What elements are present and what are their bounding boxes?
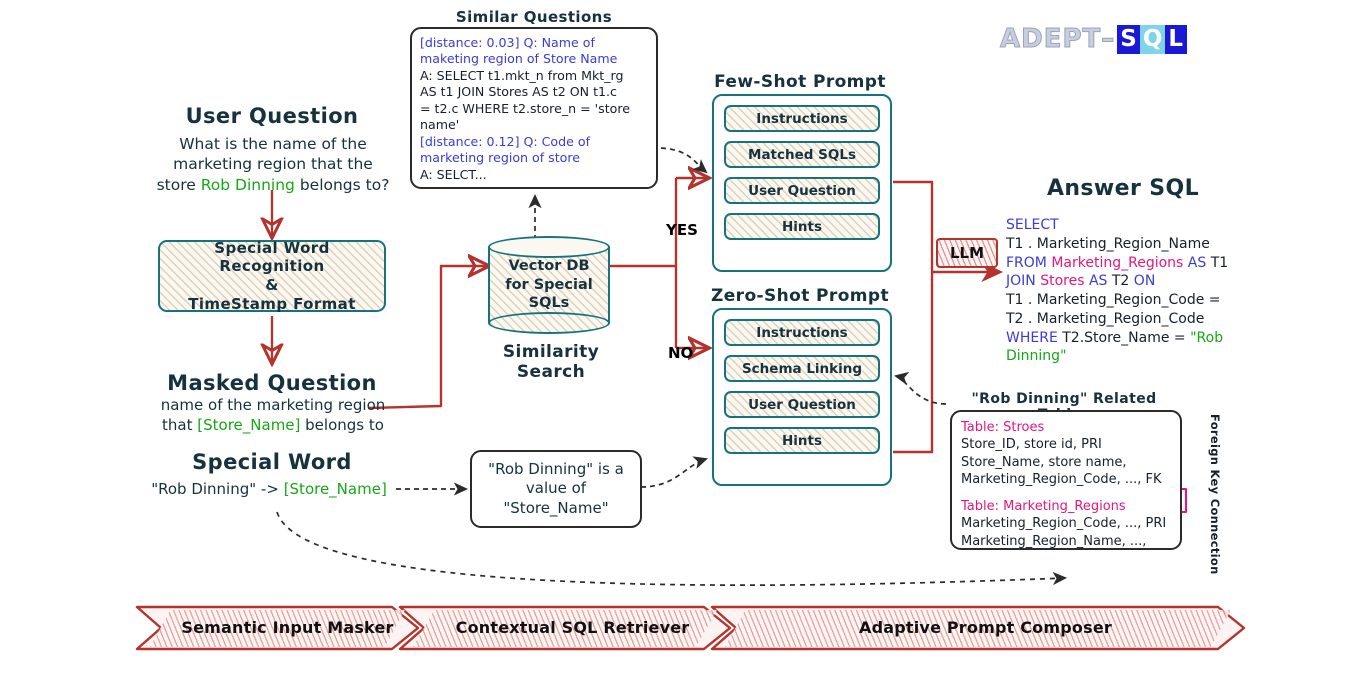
value-box-line-1: "Rob Dinning" is a [488, 460, 624, 480]
sql-line: Dinning" [1006, 347, 1238, 366]
table-row: Marketing_Region_Code, ..., PRI [961, 515, 1171, 532]
logo-sql-badge: S Q L [1117, 25, 1187, 54]
sql-line: T1 . Marketing_Region_Code = [1006, 291, 1238, 310]
zero-shot-slot-instructions[interactable]: Instructions [724, 319, 880, 346]
answer-sql-title: Answer SQL [1012, 176, 1234, 201]
table-block-stores: Table: Stroes Store_ID, store id, PRI St… [961, 419, 1171, 488]
logo-letter-l: L [1165, 25, 1187, 54]
user-question-line-1: What is the name of the [142, 134, 404, 154]
masked-question-title: Masked Question [152, 371, 392, 395]
few-shot-slot-user-question[interactable]: User Question [724, 177, 880, 204]
sq-line: A: SELCT... [420, 167, 648, 183]
mq-line2-pre: that [162, 416, 197, 434]
pipeline-stage-3-label: Adaptive Prompt Composer [859, 618, 1112, 637]
table-row: Store_Name, store name, [961, 454, 1171, 471]
pipeline-stage-3[interactable]: Adaptive Prompt Composer [733, 605, 1238, 649]
uq-line3-pre: store [157, 176, 201, 194]
sq-line: maketing region of Store Name [420, 51, 648, 67]
value-box-line-2: value of [488, 479, 624, 499]
sql-line: WHERE T2.Store_Name = "Rob [1006, 329, 1238, 348]
foreign-key-connection-label: Foreign Key Connection [1208, 414, 1222, 575]
decision-yes-label: YES [666, 221, 698, 239]
zero-shot-slot-user-question[interactable]: User Question [724, 391, 880, 418]
sq-line: name' [420, 117, 648, 133]
value-box-line-3: "Store_Name" [488, 499, 624, 519]
zero-shot-prompt-box: Instructions Schema Linking User Questio… [712, 308, 892, 486]
table-row: Store_ID, store id, PRI [961, 436, 1171, 453]
sw-value: "Rob Dinning" -> [151, 480, 279, 498]
vector-db-cylinder[interactable]: Vector DB for Special SQLs [488, 236, 610, 334]
pipeline-bar: Semantic Input Masker Contextual SQL Ret… [135, 605, 1245, 649]
decision-no-label: NO [668, 344, 693, 362]
sq-line: [distance: 0.03] Q: Name of [420, 35, 648, 51]
pipeline-stage-1[interactable]: Semantic Input Masker [155, 605, 420, 649]
table-header: Table: Stroes [961, 419, 1171, 436]
logo-letter-q: Q [1140, 25, 1166, 54]
sq-line: marketing region of store [420, 150, 648, 166]
pipeline-stage-2-label: Contextual SQL Retriever [456, 618, 690, 637]
table-block-marketing-regions: Table: Marketing_Regions Marketing_Regio… [961, 498, 1171, 550]
zero-shot-slot-schema-linking[interactable]: Schema Linking [724, 355, 880, 382]
related-tables-box: Table: Stroes Store_ID, store id, PRI St… [950, 410, 1182, 550]
mq-line2-post: belongs to [300, 416, 384, 434]
pipeline-stage-1-label: Semantic Input Masker [181, 618, 393, 637]
user-question-line-3: store Rob Dinning belongs to? [142, 175, 404, 195]
table-row: Marketing_Region_Name, ..., [961, 533, 1171, 550]
zero-shot-title: Zero-Shot Prompt [702, 286, 898, 306]
few-shot-prompt-box: Instructions Matched SQLs User Question … [712, 94, 892, 272]
mq-line-2: that [Store_Name] belongs to [138, 416, 408, 436]
logo-adept-text: ADEPT [1000, 24, 1101, 54]
swr-line-2: & [160, 276, 384, 295]
uq-line3-post: belongs to? [295, 176, 390, 194]
swr-line-3: TimeStamp Format [160, 295, 384, 314]
sql-line: T1 . Marketing_Region_Name [1006, 235, 1238, 254]
similarity-search-caption: Similarity Search [472, 342, 630, 382]
zero-shot-slot-hints[interactable]: Hints [724, 427, 880, 454]
few-shot-title: Few-Shot Prompt [706, 72, 894, 92]
vdb-line-1: Vector DB [508, 257, 589, 276]
sq-line: A: SELECT t1.mkt_n from Mkt_rg [420, 68, 648, 84]
sql-line: T2 . Marketing_Region_Code [1006, 310, 1238, 329]
user-question-text: What is the name of the marketing region… [142, 134, 404, 195]
sql-line: FROM Marketing_Regions AS T1 [1006, 254, 1238, 273]
mq-line-1: name of the marketing region [138, 396, 408, 416]
uq-special-word: Rob Dinning [201, 176, 295, 194]
sql-line: JOIN Stores AS T2 ON [1006, 272, 1238, 291]
sq-line: [distance: 0.12] Q: Code of [420, 134, 648, 150]
logo-dash: – [1101, 24, 1115, 54]
few-shot-slot-matched-sqls[interactable]: Matched SQLs [724, 141, 880, 168]
similar-questions-box: [distance: 0.03] Q: Name of maketing reg… [410, 27, 658, 189]
special-word-value-box: "Rob Dinning" is a value of "Store_Name" [470, 450, 642, 528]
similar-questions-list: [distance: 0.03] Q: Name of maketing reg… [420, 35, 648, 183]
diagram-canvas: ADEPT – S Q L User Question What is the … [0, 0, 1371, 680]
sw-mask-token: [Store_Name] [284, 480, 387, 498]
sq-line: = t2.c WHERE t2.store_n = 'store [420, 101, 648, 117]
user-question-title: User Question [152, 104, 392, 128]
sql-line: SELECT [1006, 216, 1238, 235]
swr-line-1: Special Word Recognition [160, 239, 384, 277]
llm-box[interactable]: LLM [936, 238, 998, 268]
vdb-line-2: for Special [505, 276, 592, 295]
table-header: Table: Marketing_Regions [961, 498, 1171, 515]
vector-db-label: Vector DB for Special SQLs [488, 236, 610, 334]
special-word-title: Special Word [152, 450, 392, 474]
pipeline-stage-2[interactable]: Contextual SQL Retriever [420, 605, 725, 649]
mq-mask-token: [Store_Name] [197, 416, 300, 434]
vdb-line-3: SQLs [529, 294, 570, 313]
special-word-mapping: "Rob Dinning" -> [Store_Name] [138, 480, 400, 500]
similar-questions-title: Similar Questions [408, 8, 660, 26]
adept-sql-logo: ADEPT – S Q L [1000, 24, 1187, 54]
few-shot-slot-hints[interactable]: Hints [724, 213, 880, 240]
few-shot-slot-instructions[interactable]: Instructions [724, 105, 880, 132]
masked-question-text: name of the marketing region that [Store… [138, 396, 408, 436]
answer-sql-body: SELECT T1 . Marketing_Region_Name FROM M… [1006, 216, 1238, 366]
special-word-recognition-box[interactable]: Special Word Recognition & TimeStamp For… [158, 240, 386, 312]
user-question-line-2: marketing region that the [142, 154, 404, 174]
table-row: Marketing_Region_Code, ..., FK [961, 471, 1171, 488]
logo-letter-s: S [1117, 25, 1140, 54]
sq-line: AS t1 JOIN Stores AS t2 ON t1.c [420, 84, 648, 100]
